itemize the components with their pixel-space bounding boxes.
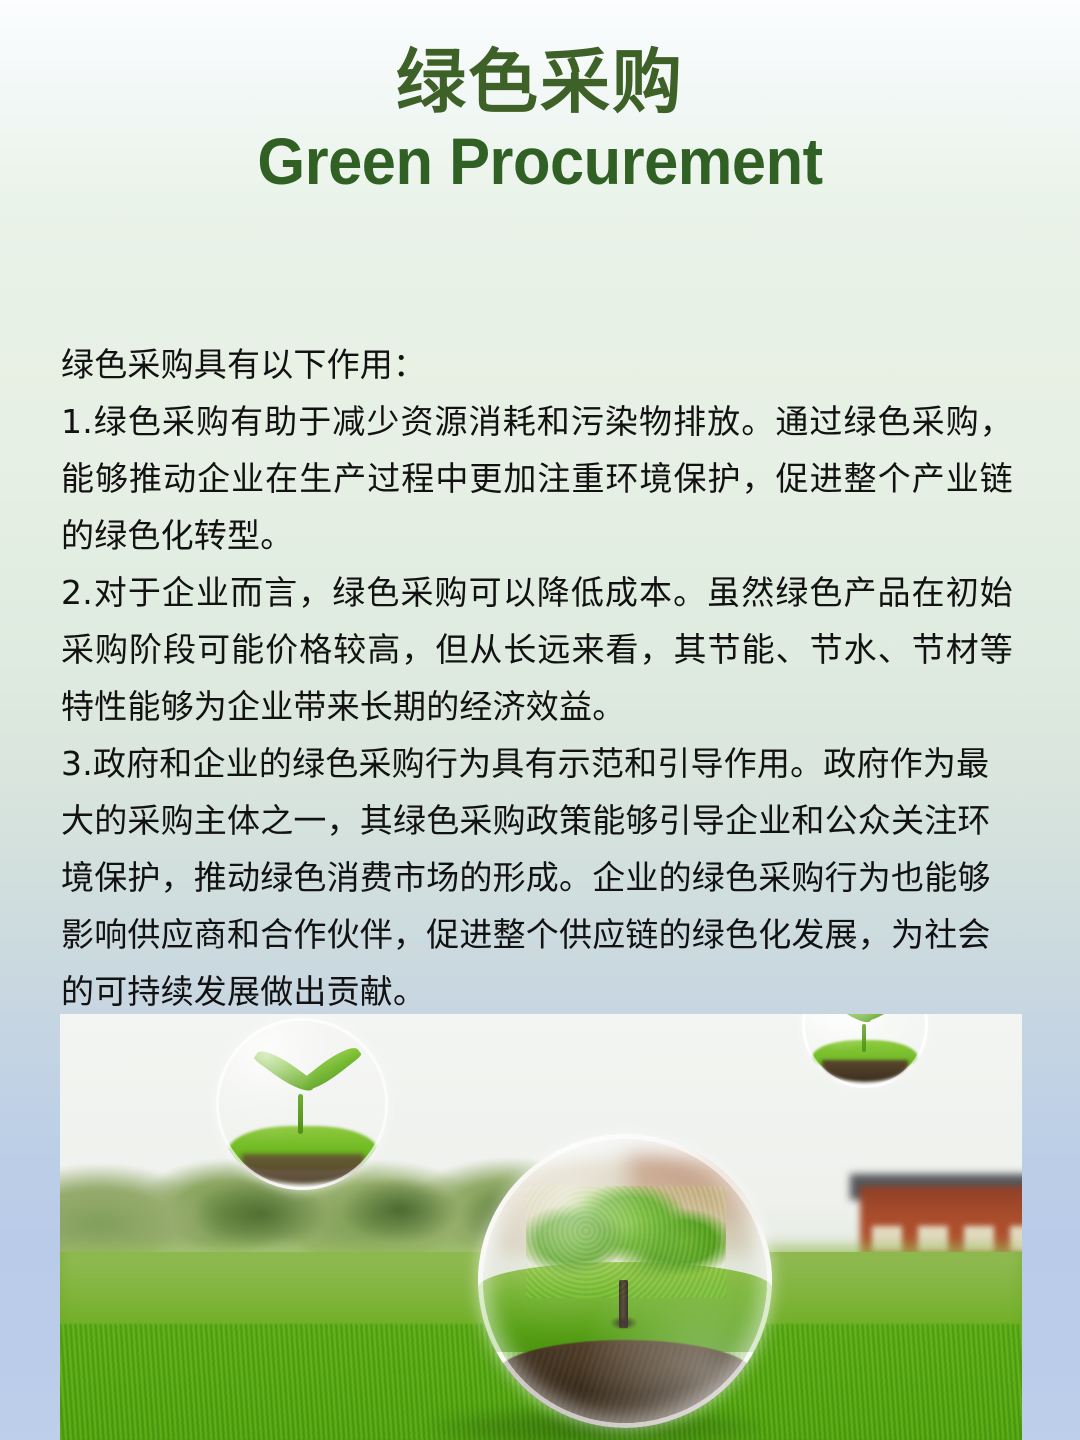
glass-sphere-with-tree-icon — [478, 1134, 772, 1428]
body-copy: 绿色采购具有以下作用： 1.绿色采购有助于减少资源消耗和污染物排放。通过绿色采购… — [61, 336, 1013, 1020]
sphere-rim — [478, 1134, 772, 1428]
body-lead-line: 绿色采购具有以下作用： — [61, 336, 1013, 393]
glass-sphere-with-sprout-icon — [216, 1018, 388, 1190]
poster-canvas: 绿色采购 Green Procurement 绿色采购具有以下作用： 1.绿色采… — [0, 0, 1080, 1440]
title-block: 绿色采购 Green Procurement — [0, 42, 1080, 200]
page-title-chinese: 绿色采购 — [0, 42, 1080, 123]
page-title-english: Green Procurement — [38, 123, 1042, 201]
body-item-2: 2.对于企业而言，绿色采购可以降低成本。虽然绿色产品在初始采购阶段可能价格较高，… — [61, 564, 1013, 735]
body-item-1: 1.绿色采购有助于减少资源消耗和污染物排放。通过绿色采购，能够推动企业在生产过程… — [61, 393, 1013, 564]
small-sphere-gloss-highlight — [216, 1018, 388, 1190]
body-item-3: 3.政府和企业的绿色采购行为具有示范和引导作用。政府作为最大的采购主体之一，其绿… — [61, 735, 1013, 1020]
hero-photo — [60, 1014, 1022, 1440]
